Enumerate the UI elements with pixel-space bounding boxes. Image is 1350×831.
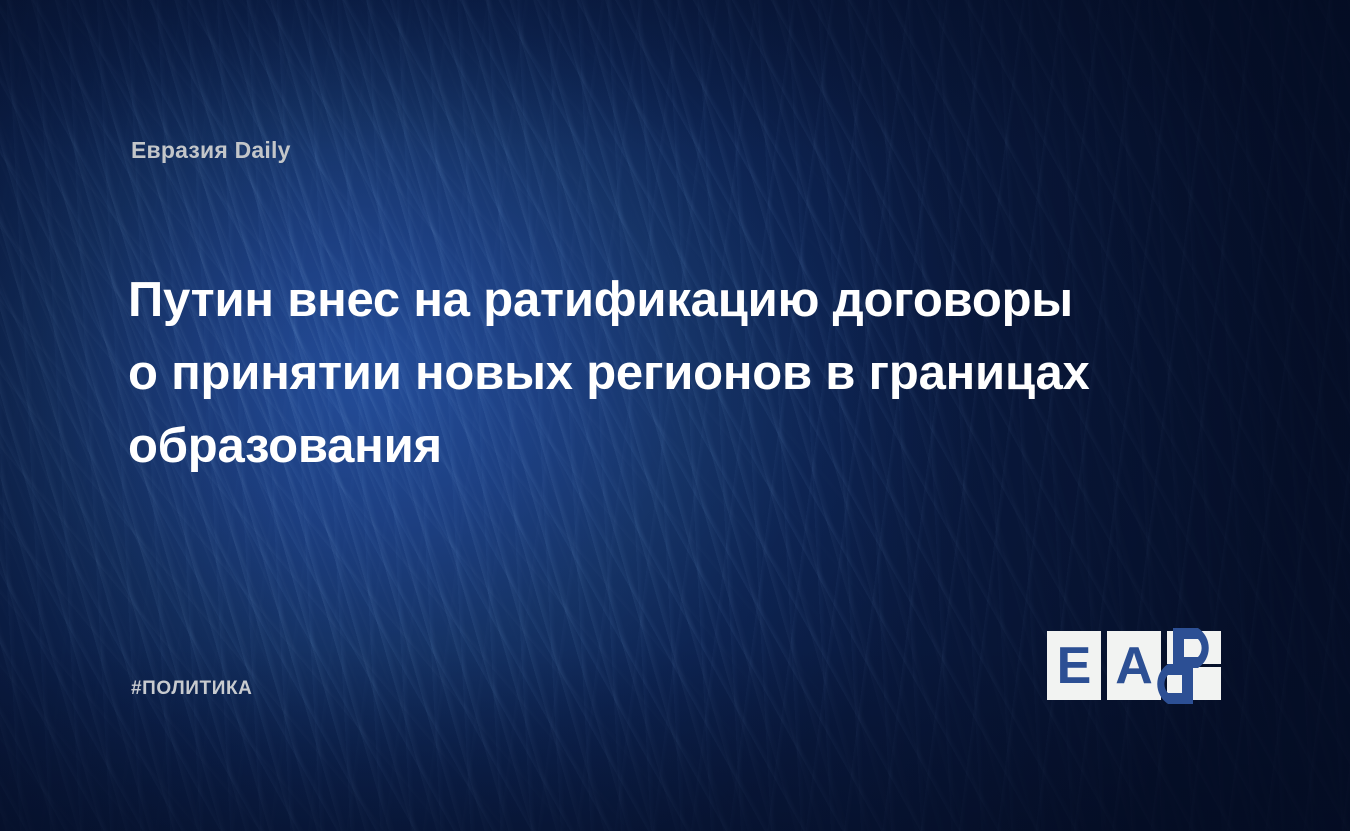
site-name: Евразия Daily xyxy=(131,137,291,164)
category-tag[interactable]: #ПОЛИТИКА xyxy=(131,678,253,700)
headline-line-2: о принятии новых регионов в границах xyxy=(128,337,1198,410)
headline-line-1: Путин внес на ратификацию договоры xyxy=(128,264,1198,337)
logo-letter-a: A xyxy=(1115,637,1153,695)
headline: Путин внес на ратификацию договоры о при… xyxy=(128,264,1198,483)
news-cover-card: Евразия Daily Путин внес на ратификацию … xyxy=(0,0,1350,831)
eadaily-logo[interactable]: E A xyxy=(1045,620,1235,716)
card-content: Евразия Daily Путин внес на ратификацию … xyxy=(0,0,1350,831)
logo-letter-e: E xyxy=(1057,637,1092,695)
eadaily-logo-mark: E A xyxy=(1045,620,1235,716)
headline-line-3: образования xyxy=(128,410,1198,483)
